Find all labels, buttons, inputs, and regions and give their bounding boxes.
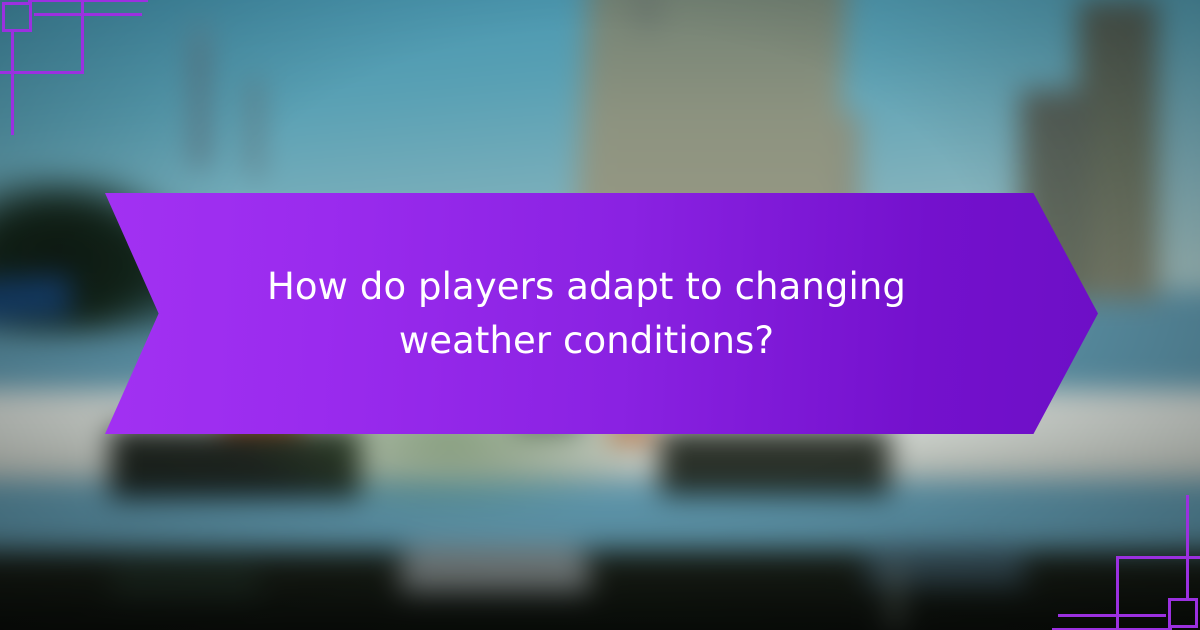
- corner-square-icon: [2, 2, 32, 32]
- corner-ornament-top-left: [0, 0, 175, 145]
- corner-bar-inner-icon: [34, 10, 142, 16]
- headline-banner: How do players adapt to changing weather…: [105, 193, 1098, 434]
- social-card: How do players adapt to changing weather…: [0, 0, 1200, 630]
- corner-square-icon: [1168, 598, 1198, 628]
- corner-vertical-bar-icon: [1186, 495, 1192, 600]
- corner-bar-inner-icon: [1058, 614, 1166, 620]
- corner-ornament-bottom-right: [1025, 485, 1200, 630]
- corner-bar-outer-icon: [28, 0, 148, 2]
- corner-vertical-bar-icon: [8, 30, 14, 135]
- page-title: How do players adapt to changing weather…: [217, 260, 957, 367]
